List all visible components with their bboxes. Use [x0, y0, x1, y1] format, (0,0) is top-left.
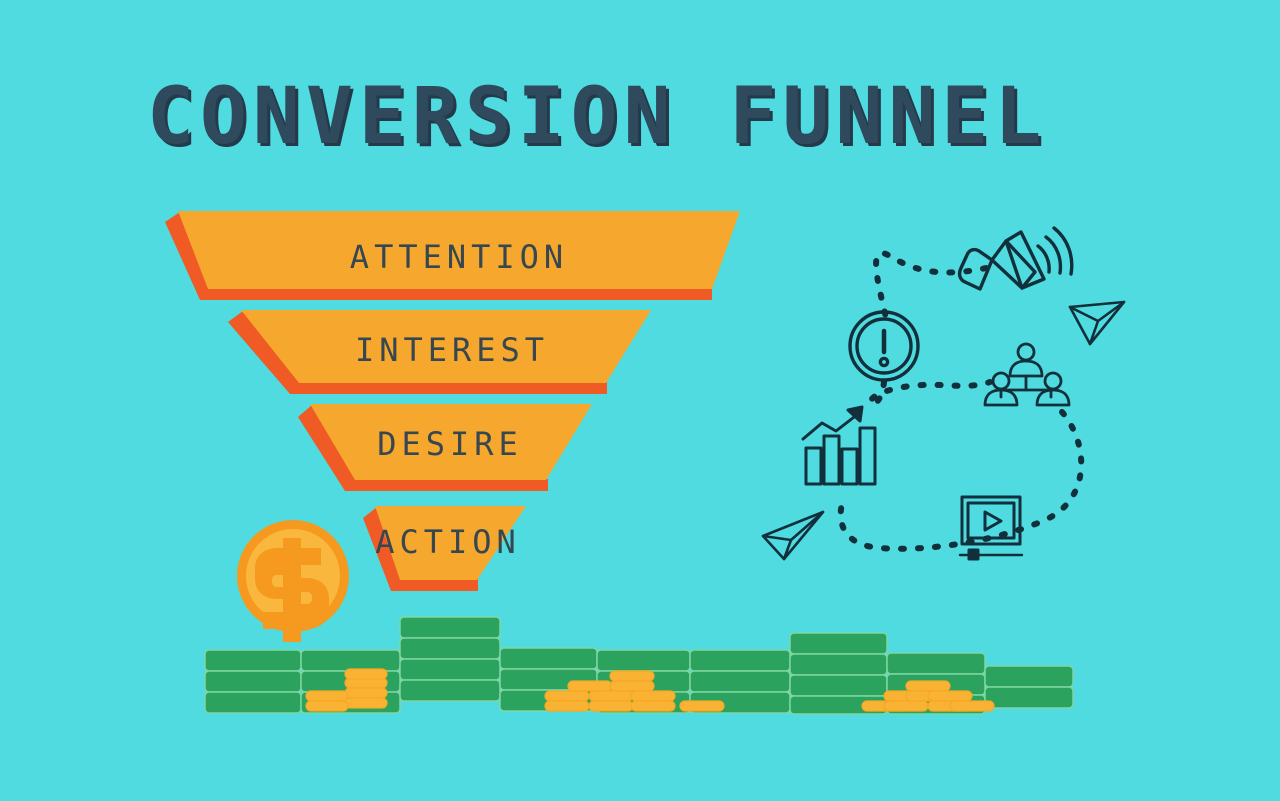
cash-bar	[205, 671, 301, 692]
video-progress-handle	[969, 550, 978, 559]
gold-coin	[610, 671, 654, 681]
page-title-group: CONVERSION FUNNEL CONVERSION FUNNEL	[147, 72, 1050, 165]
cash-bar	[500, 648, 597, 669]
artwork-layer: CONVERSION FUNNEL CONVERSION FUNNEL ATTE…	[0, 0, 1280, 801]
gold-coin	[928, 691, 972, 701]
gold-coin	[589, 701, 633, 711]
funnel-stage-label-3: DESIRE	[377, 425, 523, 463]
gold-coin	[950, 701, 994, 711]
cash-bar	[400, 659, 500, 680]
gold-coin	[306, 691, 348, 701]
cash-bar	[790, 675, 887, 696]
cash-bar	[790, 633, 887, 654]
cash-bar	[985, 666, 1073, 687]
cash-bar	[597, 650, 690, 671]
gold-coin	[545, 701, 589, 711]
gold-coin	[631, 691, 675, 701]
cash-bar	[205, 692, 301, 713]
cash-bar	[887, 653, 985, 674]
cash-bar	[205, 650, 301, 671]
coin-dollar-symbol	[255, 538, 329, 642]
gold-coin	[306, 701, 348, 711]
gold-coin	[610, 681, 654, 691]
gold-coin	[589, 691, 633, 701]
gold-coin	[545, 691, 589, 701]
cash-bar	[790, 654, 887, 675]
poster-canvas: CONVERSION FUNNEL CONVERSION FUNNEL ATTE…	[0, 0, 1280, 801]
funnel-stage-label-1: ATTENTION	[350, 238, 568, 276]
gold-coin	[568, 681, 612, 691]
gold-coin	[345, 698, 387, 708]
funnel-stage-label-2: INTEREST	[355, 331, 549, 369]
cash-bar	[400, 617, 500, 638]
gold-coin	[345, 669, 387, 679]
cash-bar	[400, 680, 500, 701]
cash-bar	[400, 638, 500, 659]
cash-bar	[301, 650, 400, 671]
page-title: CONVERSION FUNNEL	[147, 72, 1047, 162]
funnel-stage-label-4: ACTION	[375, 523, 521, 561]
gold-coin	[884, 701, 928, 711]
gold-coin	[631, 701, 675, 711]
gold-coin	[680, 701, 724, 711]
gold-coin	[906, 681, 950, 691]
cash-bar	[690, 671, 790, 692]
cash-bar	[985, 687, 1073, 708]
cash-bar	[690, 650, 790, 671]
gold-coin	[345, 688, 387, 698]
